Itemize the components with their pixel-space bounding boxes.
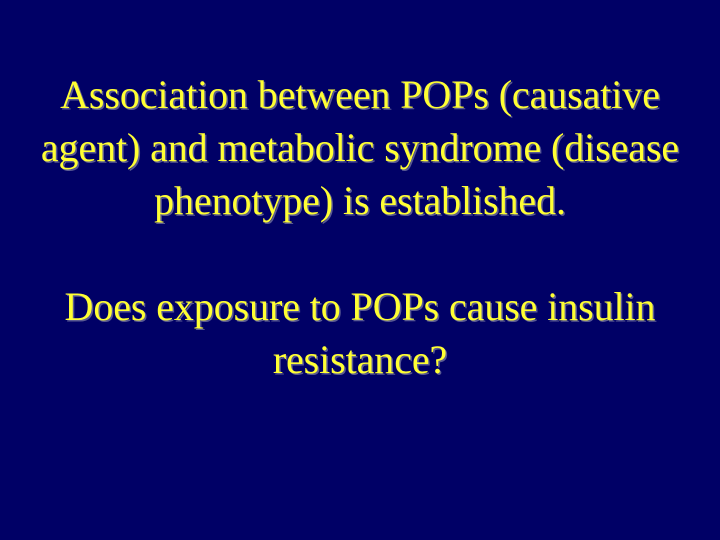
paragraph-spacer — [36, 227, 684, 280]
question-paragraph: Does exposure to POPs cause insulin resi… — [36, 280, 684, 386]
presentation-slide: Association between POPs (causative agen… — [0, 0, 720, 540]
statement-paragraph: Association between POPs (causative agen… — [36, 68, 684, 227]
slide-text-block: Association between POPs (causative agen… — [36, 68, 684, 386]
